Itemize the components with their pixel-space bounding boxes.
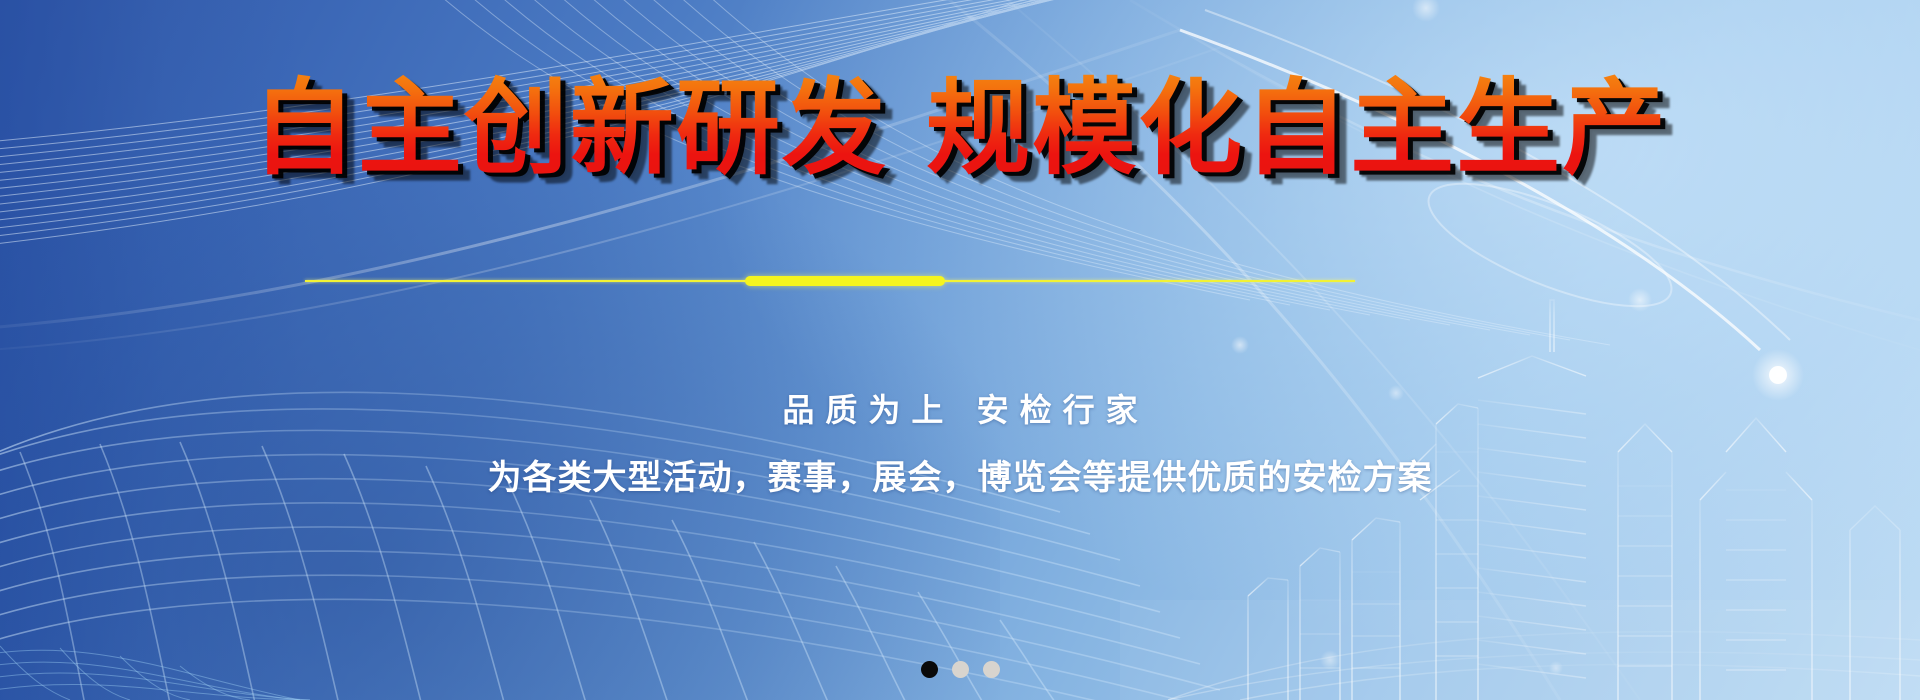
subtitle-secondary: 为各类大型活动，赛事，展会，博览会等提供优质的安检方案 bbox=[0, 450, 1920, 499]
carousel-dot-3[interactable] bbox=[983, 661, 1000, 678]
wireframe-mesh-grid bbox=[0, 392, 1260, 700]
divider-thick-segment bbox=[745, 276, 945, 286]
divider bbox=[305, 276, 1355, 286]
subtitle-primary: 品质为上 安检行家 bbox=[0, 385, 1920, 431]
hero-banner-slide: 自主创新研发 规模化自主生产 品质为上 安检行家 为各类大型活动，赛事，展会，博… bbox=[0, 0, 1920, 700]
carousel-dot-1[interactable] bbox=[921, 661, 938, 678]
carousel-indicators bbox=[0, 661, 1920, 678]
carousel-dot-2[interactable] bbox=[952, 661, 969, 678]
headline-container: 自主创新研发 规模化自主生产 bbox=[0, 72, 1920, 184]
page-title: 自主创新研发 规模化自主生产 bbox=[252, 72, 1668, 184]
